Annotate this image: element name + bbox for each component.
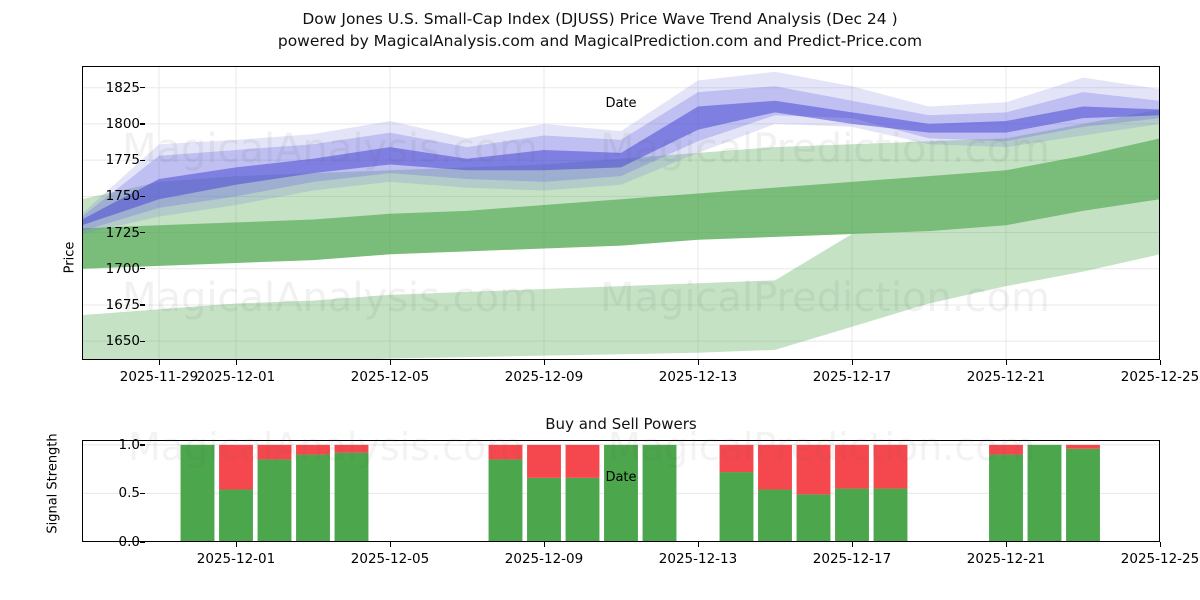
price-x-tick-label: 2025-12-17 (813, 369, 891, 385)
signal-x-tick-label: 2025-12-05 (351, 551, 429, 567)
price-y-tick-mark (140, 304, 145, 305)
price-x-tick-mark (236, 360, 237, 365)
price-x-tick-label: 2025-11-29 (120, 369, 198, 385)
price-y-tick-label: 1700 (106, 261, 140, 277)
price-y-tick-label: 1800 (106, 116, 140, 132)
price-x-tick-mark (544, 360, 545, 365)
price-y-tick-label: 1825 (106, 80, 140, 96)
price-x-tick-mark (159, 360, 160, 365)
price-y-tick-mark (140, 160, 145, 161)
price-y-tick-label: 1675 (106, 297, 140, 313)
price-y-tick-mark (140, 87, 145, 88)
signal-y-axis: 0.00.51.0 (74, 440, 140, 542)
price-x-tick-mark (1160, 360, 1161, 365)
price-x-tick-mark (698, 360, 699, 365)
price-y-tick-mark (140, 341, 145, 342)
signal-x-tick-mark (544, 542, 545, 547)
price-x-tick-label: 2025-12-21 (967, 369, 1045, 385)
chart-title-block: Dow Jones U.S. Small-Cap Index (DJUSS) P… (0, 8, 1200, 52)
price-chart: 16501675170017251750177518001825 Price 2… (82, 66, 1160, 360)
signal-x-tick-mark (852, 542, 853, 547)
signal-y-axis-label: Signal Strength (46, 409, 61, 559)
signal-chart: 0.00.51.0 Signal Strength 2025-12-012025… (82, 440, 1160, 542)
price-y-tick-label: 1775 (106, 152, 140, 168)
signal-x-tick-label: 2025-12-25 (1121, 551, 1199, 567)
signal-y-tick-mark (140, 444, 145, 445)
signal-plot-frame (82, 440, 1160, 542)
price-x-tick-mark (390, 360, 391, 365)
page-subtitle: powered by MagicalAnalysis.com and Magic… (0, 30, 1200, 52)
price-x-tick-label: 2025-12-09 (505, 369, 583, 385)
signal-x-tick-label: 2025-12-09 (505, 551, 583, 567)
signal-chart-title: Buy and Sell Powers (82, 415, 1160, 433)
price-x-tick-label: 2025-12-13 (659, 369, 737, 385)
price-x-tick-label: 2025-12-01 (197, 369, 275, 385)
signal-x-tick-label: 2025-12-17 (813, 551, 891, 567)
signal-x-axis: 2025-12-012025-12-052025-12-092025-12-13… (82, 542, 1160, 582)
price-y-tick-mark (140, 196, 145, 197)
price-x-axis: 2025-11-292025-12-012025-12-052025-12-09… (82, 360, 1160, 400)
price-x-tick-mark (1006, 360, 1007, 365)
signal-x-tick-mark (698, 542, 699, 547)
signal-x-tick-label: 2025-12-01 (197, 551, 275, 567)
price-y-axis-label: Price (63, 198, 78, 318)
signal-x-tick-label: 2025-12-21 (967, 551, 1045, 567)
signal-x-tick-label: 2025-12-13 (659, 551, 737, 567)
signal-y-tick-mark (140, 493, 145, 494)
signal-x-tick-mark (1006, 542, 1007, 547)
chart-page: Dow Jones U.S. Small-Cap Index (DJUSS) P… (0, 0, 1200, 600)
price-y-tick-label: 1750 (106, 188, 140, 204)
price-y-tick-mark (140, 232, 145, 233)
price-y-tick-label: 1650 (106, 333, 140, 349)
signal-y-tick-label: 0.5 (119, 485, 140, 501)
signal-x-tick-mark (236, 542, 237, 547)
price-y-tick-mark (140, 123, 145, 124)
page-title: Dow Jones U.S. Small-Cap Index (DJUSS) P… (0, 8, 1200, 30)
signal-x-tick-mark (390, 542, 391, 547)
signal-y-tick-label: 1.0 (119, 437, 140, 453)
signal-x-tick-mark (1160, 542, 1161, 547)
price-y-tick-mark (140, 268, 145, 269)
price-x-tick-mark (852, 360, 853, 365)
price-x-tick-label: 2025-12-05 (351, 369, 429, 385)
price-x-tick-label: 2025-12-25 (1121, 369, 1199, 385)
price-x-axis-label: Date (82, 96, 1160, 111)
signal-x-axis-label: Date (82, 470, 1160, 485)
price-y-tick-label: 1725 (106, 225, 140, 241)
